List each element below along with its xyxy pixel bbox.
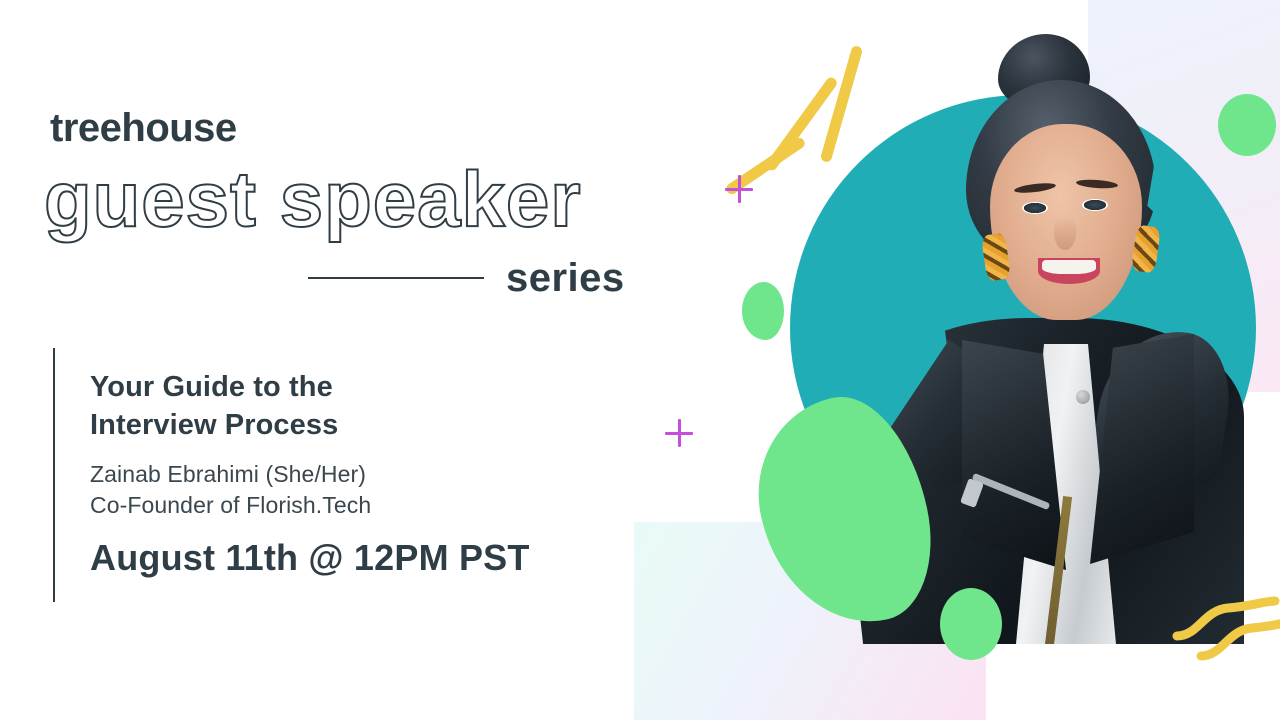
nose bbox=[1054, 216, 1076, 250]
green-blob-icon bbox=[742, 282, 784, 340]
series-row: series bbox=[308, 254, 624, 302]
series-divider bbox=[308, 277, 484, 279]
mouth bbox=[1038, 258, 1100, 284]
jacket-button bbox=[1076, 390, 1090, 404]
speaker-name: Zainab Ebrahimi (She/Her) bbox=[90, 459, 630, 491]
teeth bbox=[1042, 260, 1096, 274]
green-blob-icon bbox=[940, 588, 1002, 660]
headline-outline: guest speaker bbox=[44, 160, 582, 238]
event-datetime: August 11th @ 12PM PST bbox=[90, 538, 630, 578]
plus-icon bbox=[725, 175, 753, 203]
promo-slide: treehouse guest speaker series Your Guid… bbox=[0, 0, 1280, 720]
eye-right bbox=[1082, 199, 1108, 211]
yellow-wave-icon bbox=[1196, 616, 1280, 662]
speaker-role: Co-Founder of Florish.Tech bbox=[90, 490, 630, 522]
talk-title-line-2: Interview Process bbox=[90, 406, 630, 444]
series-label: series bbox=[506, 258, 625, 298]
eye-left bbox=[1022, 202, 1048, 214]
vertical-divider bbox=[53, 348, 55, 602]
talk-title-line-1: Your Guide to the bbox=[90, 368, 630, 406]
brand-wordmark: treehouse bbox=[50, 108, 237, 148]
plus-icon bbox=[665, 419, 693, 447]
event-info: Your Guide to the Interview Process Zain… bbox=[90, 368, 630, 578]
